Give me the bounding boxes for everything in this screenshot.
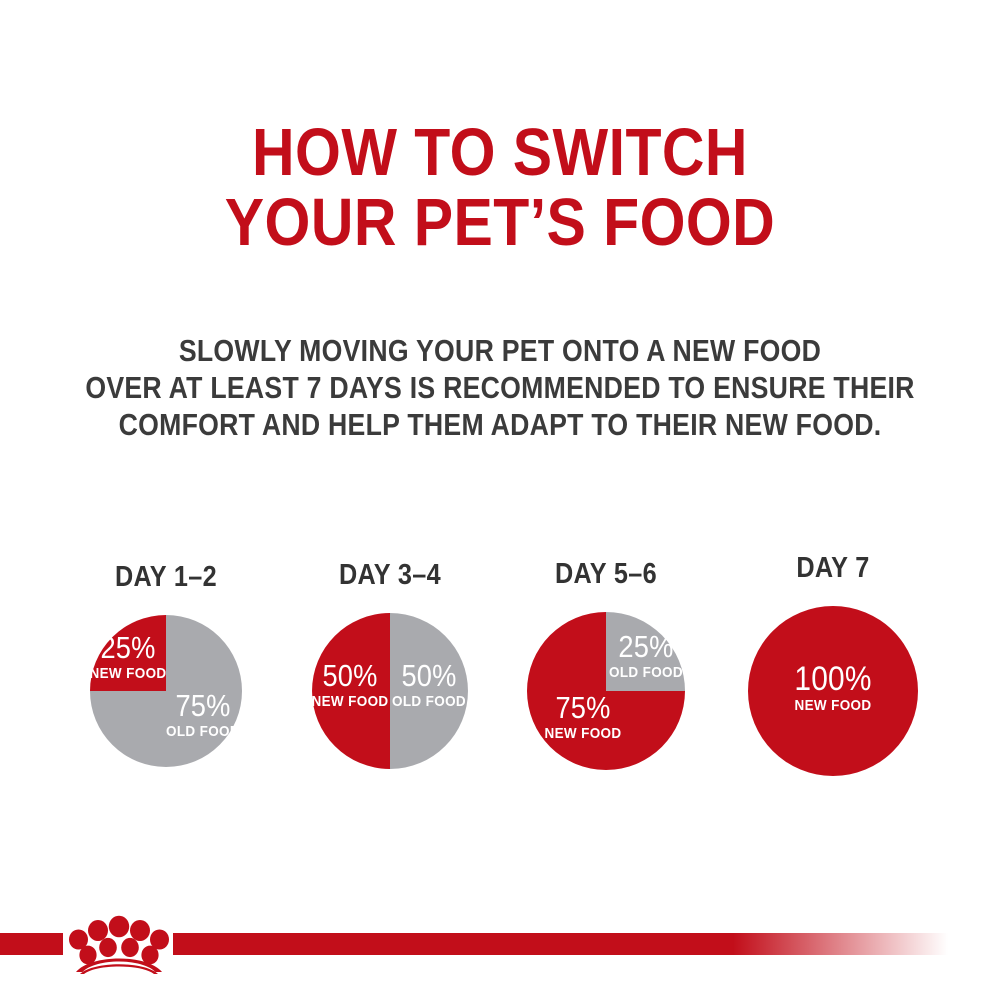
slice-percent-label: 25% <box>100 631 155 665</box>
subtitle-line-2: OVER AT LEAST 7 DAYS IS RECOMMENDED TO E… <box>70 369 930 406</box>
footer <box>0 930 1000 1000</box>
pie-chart-4: DAY 7100%NEW FOOD <box>745 603 921 779</box>
slice-series-label: NEW FOOD <box>311 693 388 710</box>
page-title: HOW TO SWITCH YOUR PET’S FOOD <box>0 118 1000 258</box>
pie-slice-old-food <box>606 612 685 691</box>
slice-series-label: NEW FOOD <box>89 665 166 682</box>
pie-svg-3: 25%OLD FOOD75%NEW FOOD <box>524 609 688 773</box>
pie-slice-new-food <box>90 615 166 691</box>
pie-day-label-1: DAY 1–2 <box>97 561 234 594</box>
slice-percent-label: 75% <box>175 689 230 723</box>
pie-day-label-3: DAY 5–6 <box>535 558 678 591</box>
royal-canin-crown-icon <box>63 912 175 974</box>
slice-series-label: NEW FOOD <box>794 697 871 714</box>
pie-slice-new-food <box>527 612 685 770</box>
pie-slice-new-food <box>312 613 390 769</box>
subtitle-line-1: SLOWLY MOVING YOUR PET ONTO A NEW FOOD <box>70 332 930 369</box>
slice-percent-label: 50% <box>401 659 456 693</box>
slice-percent-label: 100% <box>794 659 871 697</box>
pie-chart-3: DAY 5–625%OLD FOOD75%NEW FOOD <box>524 609 688 773</box>
slice-percent-label: 25% <box>618 630 673 664</box>
subtitle-line-3: COMFORT AND HELP THEM ADAPT TO THEIR NEW… <box>70 406 930 443</box>
footer-bar-right-segment <box>173 933 963 955</box>
pie-chart-1: DAY 1–225%NEW FOOD75%OLD FOOD <box>87 612 245 770</box>
slice-series-label: OLD FOOD <box>609 664 683 681</box>
pie-svg-1: 25%NEW FOOD75%OLD FOOD <box>87 612 245 770</box>
footer-bar-left-segment <box>0 933 63 955</box>
slice-percent-label: 50% <box>322 659 377 693</box>
slice-series-label: NEW FOOD <box>544 725 621 742</box>
pie-day-label-2: DAY 3–4 <box>320 559 461 592</box>
pie-slice-new-food <box>748 606 918 776</box>
title-line-1: HOW TO SWITCH <box>60 118 940 188</box>
pie-svg-4: 100%NEW FOOD <box>745 603 921 779</box>
slice-series-label: OLD FOOD <box>392 693 466 710</box>
title-line-2: YOUR PET’S FOOD <box>60 188 940 258</box>
pie-svg-2: 50%NEW FOOD50%OLD FOOD <box>309 610 471 772</box>
slice-series-label: OLD FOOD <box>166 723 240 740</box>
page-subtitle: SLOWLY MOVING YOUR PET ONTO A NEW FOOD O… <box>0 332 1000 443</box>
pie-chart-2: DAY 3–450%NEW FOOD50%OLD FOOD <box>309 610 471 772</box>
pie-day-label-4: DAY 7 <box>756 552 909 585</box>
pie-slice-old-food <box>90 615 242 767</box>
slice-percent-label: 75% <box>555 691 610 725</box>
pie-slice-old-food <box>390 613 468 769</box>
